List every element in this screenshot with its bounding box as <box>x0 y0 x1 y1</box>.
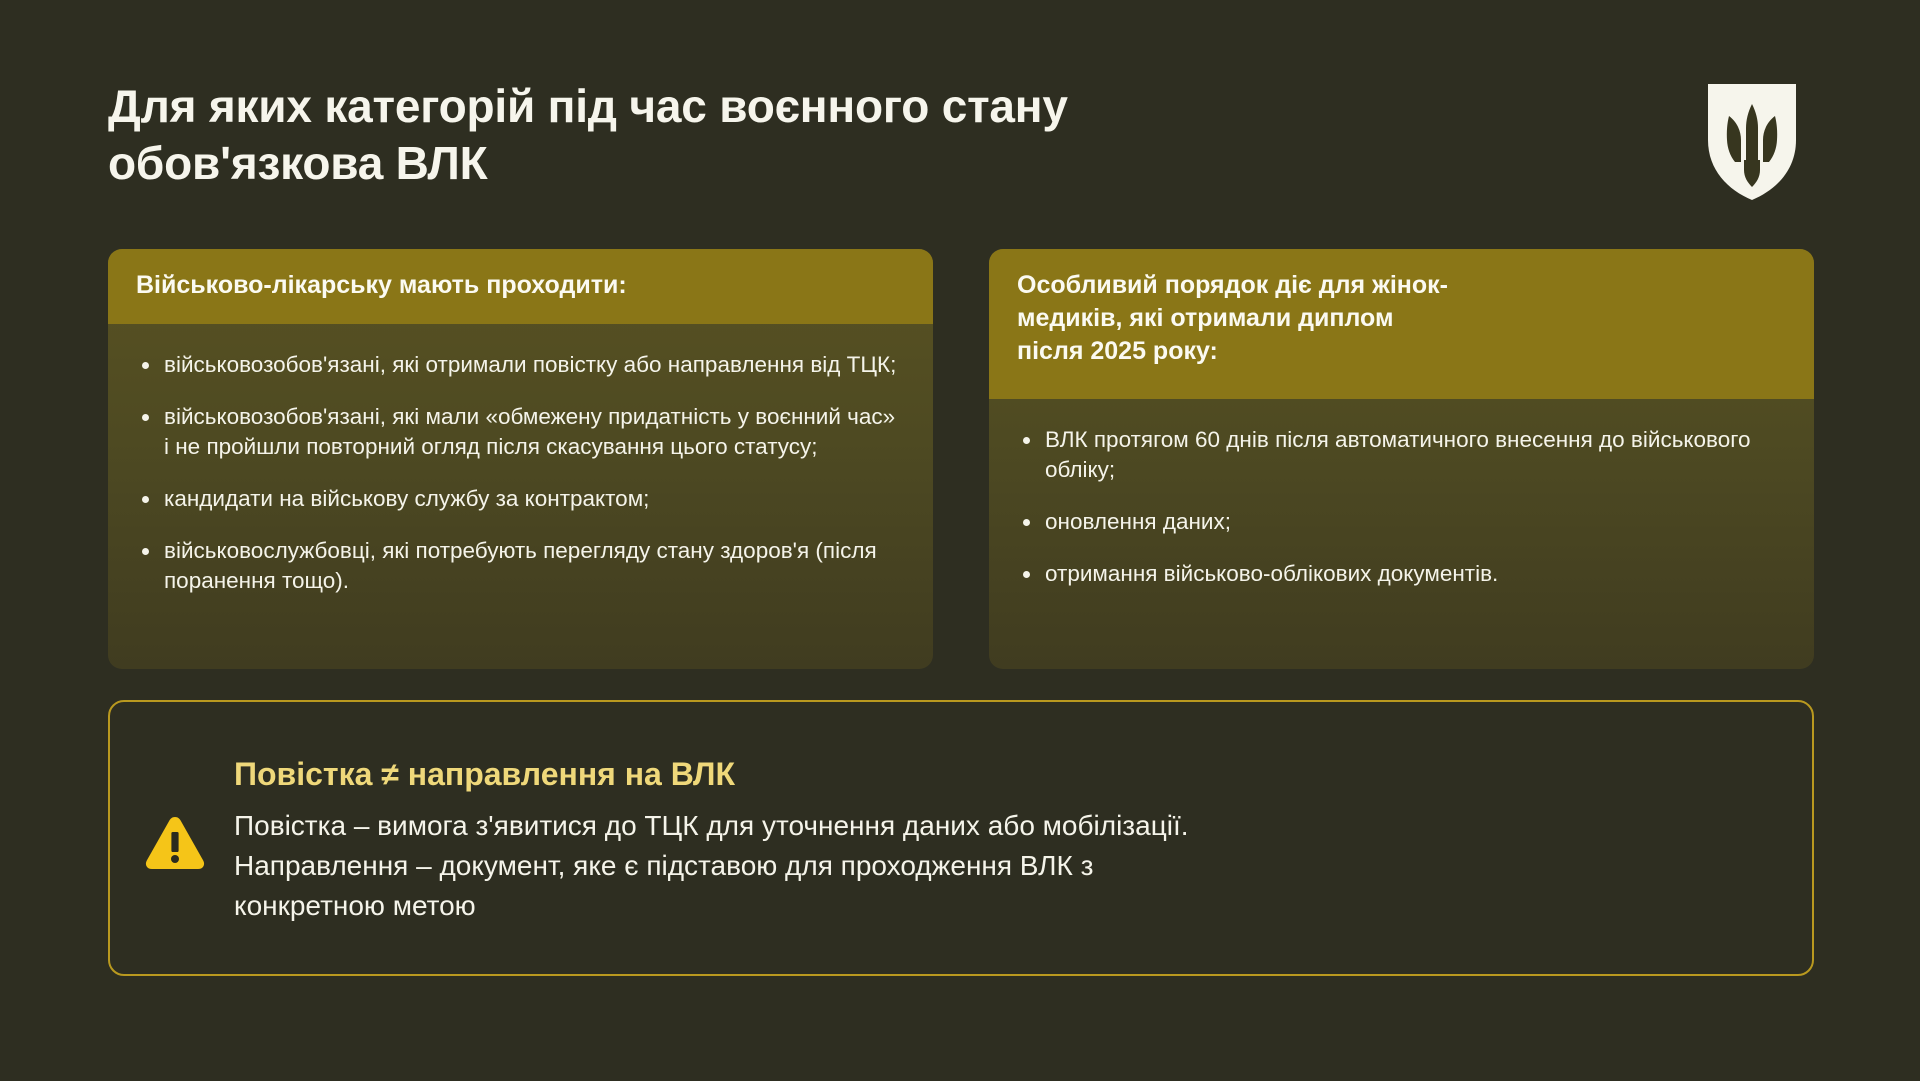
cards-row: Військово-лікарську мають проходити: вій… <box>108 249 1814 669</box>
page-header: Для яких категорій під час воєнного стан… <box>108 78 1812 207</box>
ukraine-defence-shield-trident-emblem <box>1704 82 1800 207</box>
callout-text-block: Повістка ≠ направлення на ВЛК Повістка –… <box>234 750 1778 925</box>
list-item: військовозобов'язані, які отримали повіс… <box>138 350 903 380</box>
infographic-page: Для яких категорій під час воєнного стан… <box>0 0 1920 1081</box>
list-item: ВЛК протягом 60 днів після автоматичного… <box>1019 425 1784 485</box>
callout-title: Повістка ≠ направлення на ВЛК <box>234 754 1778 794</box>
card-body-female-medics: ВЛК протягом 60 днів після автоматичного… <box>989 399 1814 669</box>
page-title: Для яких категорій під час воєнного стан… <box>108 78 1068 191</box>
list-item: оновлення даних; <box>1019 507 1784 537</box>
card-body-general: військовозобов'язані, які отримали повіс… <box>108 324 933 669</box>
card-female-medics: Особливий порядок діє для жінок- медиків… <box>989 249 1814 669</box>
bullet-list-general: військовозобов'язані, які отримали повіс… <box>138 350 903 596</box>
bullet-list-female-medics: ВЛК протягом 60 днів після автоматичного… <box>1019 425 1784 589</box>
warning-triangle-icon <box>144 814 206 877</box>
list-item: військовослужбовці, які потребують перег… <box>138 536 903 596</box>
card-header-general: Військово-лікарську мають проходити: <box>108 249 933 324</box>
card-general-categories: Військово-лікарську мають проходити: вій… <box>108 249 933 669</box>
callout-box: Повістка ≠ направлення на ВЛК Повістка –… <box>108 700 1814 976</box>
list-item: військовозобов'язані, які мали «обмежену… <box>138 402 903 462</box>
list-item: кандидати на військову службу за контрак… <box>138 484 903 514</box>
callout-body: Повістка – вимога з'явитися до ТЦК для у… <box>234 806 1778 925</box>
card-header-female-medics: Особливий порядок діє для жінок- медиків… <box>989 249 1814 399</box>
list-item: отримання військово-облікових документів… <box>1019 559 1784 589</box>
